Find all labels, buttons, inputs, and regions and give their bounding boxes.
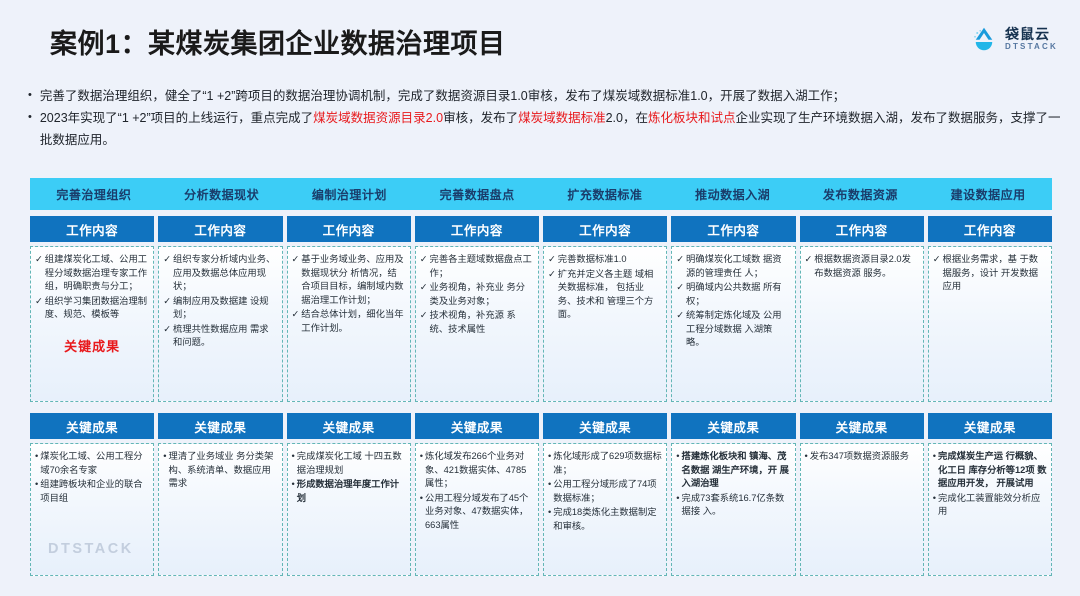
work-item-text: 基于业务域业务、应用及数据现状分 析情况，结合项目目标，编制域内数 据治理工作计… <box>301 253 405 307</box>
key-result-box: •发布347项数据资源服务 <box>800 443 924 576</box>
work-item: ✓编制应用及数据建 设规划； <box>163 295 277 322</box>
work-item-text: 统筹制定炼化域及 公用工程分域数据 入湖策略。 <box>686 309 790 349</box>
key-result-header[interactable]: 关键成果 <box>800 413 924 439</box>
banner-cell-7[interactable]: 发布数据资源 <box>797 186 925 203</box>
key-result-header[interactable]: 关键成果 <box>543 413 667 439</box>
work-item-text: 根据业务需求，基 于数据服务，设计 开发数据应用 <box>943 253 1047 293</box>
phase-column-2: 工作内容✓组织专家分析域内业务、应用及数据总体应用现状；✓编制应用及数据建 设规… <box>158 216 282 576</box>
bullet-text: 2023年实现了“1 +2”项目的上线运行，重点完成了煤炭域数据资源目录2.0审… <box>40 108 1062 152</box>
column-spacer <box>928 402 1052 413</box>
key-result-box: •炼化域形成了629项数据标准；•公用工程分域形成了74项数据标准；•完成18类… <box>543 443 667 576</box>
phase-column-6: 工作内容✓明确煤炭化工域数 据资源的管理责任 人；✓明确域内公共数据 所有权；✓… <box>671 216 795 576</box>
bullet-highlight: 煤炭域数据标准 <box>518 111 606 125</box>
bullet-segment: 审核，发布了 <box>443 111 518 125</box>
result-item: •炼化域发布266个业务对象、421数据实体、4785属性； <box>420 450 534 490</box>
result-item-text: 完成18类炼化主数据制定和审核。 <box>553 506 662 533</box>
work-item-text: 明确煤炭化工域数 据资源的管理责任 人； <box>686 253 790 280</box>
bullet-dot-icon: • <box>548 478 551 491</box>
banner-cell-5[interactable]: 扩充数据标准 <box>541 186 669 203</box>
work-content-box: ✓完善数据标准1.0✓扩充并定义各主题 域相关数据标准， 包括业务、技术和 管理… <box>543 246 667 401</box>
check-icon: ✓ <box>163 323 171 336</box>
result-item: •发布347项数据资源服务 <box>805 450 919 463</box>
key-result-header[interactable]: 关键成果 <box>158 413 282 439</box>
bullet-item: •2023年实现了“1 +2”项目的上线运行，重点完成了煤炭域数据资源目录2.0… <box>28 108 1062 152</box>
work-content-box: ✓根据数据资源目录2.0发布数据资源 服务。 <box>800 246 924 401</box>
column-spacer <box>671 402 795 413</box>
phase-column-7: 工作内容✓根据数据资源目录2.0发布数据资源 服务。关键成果•发布347项数据资… <box>800 216 924 576</box>
result-item: •公用工程分域发布了45个业务对象、47数据实体，663属性 <box>420 492 534 532</box>
result-item: •完成煤炭化工域 十四五数据治理规划 <box>292 450 406 477</box>
phase-column-8: 工作内容✓根据业务需求，基 于数据服务，设计 开发数据应用关键成果•完成煤炭生产… <box>928 216 1052 576</box>
brand-name-en: DTSTACK <box>1005 43 1058 51</box>
work-item: ✓基于业务域业务、应用及数据现状分 析情况，结合项目目标，编制域内数 据治理工作… <box>292 253 406 307</box>
check-icon: ✓ <box>933 253 941 266</box>
work-item-text: 技术视角，补充源 系统、技术属性 <box>430 309 534 336</box>
work-item: ✓明确域内公共数据 所有权； <box>676 281 790 308</box>
banner-cell-1[interactable]: 完善治理组织 <box>30 186 158 203</box>
key-result-header[interactable]: 关键成果 <box>415 413 539 439</box>
column-spacer <box>543 402 667 413</box>
result-item: •搭建炼化板块和 镇海、茂名数据 湖生产环境，开 展入湖治理 <box>676 450 790 490</box>
bullet-dot-icon: • <box>420 492 423 505</box>
bullet-segment: 2.0，在 <box>606 111 648 125</box>
work-item-text: 编制应用及数据建 设规划； <box>173 295 277 322</box>
check-icon: ✓ <box>35 295 43 308</box>
result-item-text: 组建跨板块和企业的联合项目组 <box>40 478 149 505</box>
watermark-dtstack: DTSTACK <box>48 541 134 557</box>
bullet-dot-icon: • <box>292 450 295 463</box>
dtstack-logo-icon <box>969 24 999 54</box>
result-item: •完成18类炼化主数据制定和审核。 <box>548 506 662 533</box>
summary-bullets: •完善了数据治理组织，健全了“1 +2”跨项目的数据治理协调机制，完成了数据资源… <box>28 86 1062 152</box>
bullet-dot-icon: • <box>548 506 551 519</box>
result-item: •形成数据治理年度工作计划 <box>292 478 406 505</box>
key-result-box: •炼化域发布266个业务对象、421数据实体、4785属性；•公用工程分域发布了… <box>415 443 539 576</box>
work-item: ✓统筹制定炼化域及 公用工程分域数据 入湖策略。 <box>676 309 790 349</box>
banner-cell-4[interactable]: 完善数据盘点 <box>413 186 541 203</box>
key-result-header[interactable]: 关键成果 <box>287 413 411 439</box>
bullet-highlight: 炼化板块和试点 <box>648 111 736 125</box>
result-item: •完成化工装置能效分析应用 <box>933 492 1047 519</box>
check-icon: ✓ <box>548 253 556 266</box>
column-spacer <box>800 402 924 413</box>
work-item-text: 梳理共性数据应用 需求和问题。 <box>173 323 277 350</box>
work-content-header[interactable]: 工作内容 <box>928 216 1052 242</box>
result-item-text: 形成数据治理年度工作计划 <box>297 478 406 505</box>
check-icon: ✓ <box>548 268 556 281</box>
work-item: ✓完善各主题域数据盘点工作； <box>420 253 534 280</box>
work-content-header[interactable]: 工作内容 <box>158 216 282 242</box>
work-content-box: ✓组建煤炭化工域、公用工程分域数据治理专家工作组，明确职责与分工；✓组织学习集团… <box>30 246 154 401</box>
check-icon: ✓ <box>35 253 43 266</box>
work-item-text: 组建煤炭化工域、公用工程分域数据治理专家工作组，明确职责与分工； <box>45 253 149 293</box>
bullet-segment: 2023年实现了“1 +2”项目的上线运行，重点完成了 <box>40 111 313 125</box>
bullet-dot-icon: • <box>35 450 38 463</box>
work-content-header[interactable]: 工作内容 <box>415 216 539 242</box>
work-item: ✓组建煤炭化工域、公用工程分域数据治理专家工作组，明确职责与分工； <box>35 253 149 293</box>
work-item: ✓根据业务需求，基 于数据服务，设计 开发数据应用 <box>933 253 1047 293</box>
result-item: •完成73套系统16.7亿条数据接 入。 <box>676 492 790 519</box>
result-item: •公用工程分域形成了74项数据标准； <box>548 478 662 505</box>
work-item: ✓根据数据资源目录2.0发布数据资源 服务。 <box>805 253 919 280</box>
work-content-header[interactable]: 工作内容 <box>30 216 154 242</box>
work-item: ✓扩充并定义各主题 域相关数据标准， 包括业务、技术和 管理三个方面。 <box>548 268 662 322</box>
work-item: ✓组织学习集团数据治理制度、规范、模板等 <box>35 295 149 322</box>
result-item: •煤炭化工域、公用工程分域70余名专家 <box>35 450 149 477</box>
check-icon: ✓ <box>163 253 171 266</box>
banner-cell-8[interactable]: 建设数据应用 <box>924 186 1052 203</box>
work-item-text: 完善数据标准1.0 <box>558 253 662 266</box>
work-item-text: 扩充并定义各主题 域相关数据标准， 包括业务、技术和 管理三个方面。 <box>558 268 662 322</box>
work-item: ✓业务视角，补充业 务分类及业务对象； <box>420 281 534 308</box>
work-item: ✓组织专家分析域内业务、应用及数据总体应用现状； <box>163 253 277 293</box>
result-item-text: 煤炭化工域、公用工程分域70余名专家 <box>40 450 149 477</box>
result-item-text: 完成化工装置能效分析应用 <box>938 492 1047 519</box>
work-item-text: 完善各主题域数据盘点工作； <box>430 253 534 280</box>
brand-logo: 袋鼠云 DTSTACK <box>969 24 1058 54</box>
work-item: ✓技术视角，补充源 系统、技术属性 <box>420 309 534 336</box>
check-icon: ✓ <box>292 308 300 321</box>
check-icon: ✓ <box>420 253 428 266</box>
column-spacer <box>30 402 154 413</box>
check-icon: ✓ <box>420 281 428 294</box>
bullet-dot-icon: • <box>676 492 679 505</box>
result-item: •完成煤炭生产运 行概貌、化工日 库存分析等12项 数据应用开发， 开展试用 <box>933 450 1047 490</box>
result-item-text: 完成煤炭生产运 行概貌、化工日 库存分析等12项 数据应用开发， 开展试用 <box>938 450 1047 490</box>
work-item-text: 组织专家分析域内业务、应用及数据总体应用现状； <box>173 253 277 293</box>
check-icon: ✓ <box>292 253 300 266</box>
phase-grid: 工作内容✓组建煤炭化工域、公用工程分域数据治理专家工作组，明确职责与分工；✓组织… <box>30 216 1052 576</box>
phase-column-1: 工作内容✓组建煤炭化工域、公用工程分域数据治理专家工作组，明确职责与分工；✓组织… <box>30 216 154 576</box>
result-item-text: 完成73套系统16.7亿条数据接 入。 <box>682 492 791 519</box>
result-item-text: 理清了业务域业 务分类架构、系统清单、数据应用需求 <box>169 450 278 490</box>
bullet-dot-icon: • <box>933 492 936 505</box>
work-content-header[interactable]: 工作内容 <box>543 216 667 242</box>
result-item-text: 炼化域形成了629项数据标准； <box>553 450 662 477</box>
work-item: ✓结合总体计划，细化当年工作计划。 <box>292 308 406 335</box>
check-icon: ✓ <box>676 253 684 266</box>
bullet-dot-icon: • <box>35 478 38 491</box>
bullet-highlight: 煤炭域数据资源目录2.0 <box>313 111 443 125</box>
bullet-item: •完善了数据治理组织，健全了“1 +2”跨项目的数据治理协调机制，完成了数据资源… <box>28 86 1062 108</box>
bullet-dot-icon: • <box>548 450 551 463</box>
work-content-box: ✓根据业务需求，基 于数据服务，设计 开发数据应用 <box>928 246 1052 401</box>
check-icon: ✓ <box>420 309 428 322</box>
column-spacer <box>415 402 539 413</box>
bullet-marker: • <box>28 108 32 127</box>
key-result-box: •搭建炼化板块和 镇海、茂名数据 湖生产环境，开 展入湖治理•完成73套系统16… <box>671 443 795 576</box>
key-result-header[interactable]: 关键成果 <box>671 413 795 439</box>
work-item-text: 组织学习集团数据治理制度、规范、模板等 <box>45 295 149 322</box>
result-item: •炼化域形成了629项数据标准； <box>548 450 662 477</box>
result-item-text: 完成煤炭化工域 十四五数据治理规划 <box>297 450 406 477</box>
result-item: •组建跨板块和企业的联合项目组 <box>35 478 149 505</box>
banner-cell-3[interactable]: 编制治理计划 <box>286 186 414 203</box>
check-icon: ✓ <box>676 309 684 322</box>
result-item-text: 公用工程分域形成了74项数据标准； <box>553 478 662 505</box>
brand-name-cn: 袋鼠云 <box>1005 27 1058 41</box>
key-result-red-label: 关键成果 <box>35 338 149 357</box>
bullet-dot-icon: • <box>420 450 423 463</box>
result-item-text: 公用工程分域发布了45个业务对象、47数据实体，663属性 <box>425 492 534 532</box>
page-title: 案例1：某煤炭集团企业数据治理项目 <box>50 22 506 61</box>
work-content-header[interactable]: 工作内容 <box>671 216 795 242</box>
work-item-text: 结合总体计划，细化当年工作计划。 <box>301 308 405 335</box>
column-spacer <box>287 402 411 413</box>
work-content-box: ✓组织专家分析域内业务、应用及数据总体应用现状；✓编制应用及数据建 设规划；✓梳… <box>158 246 282 401</box>
result-item-text: 搭建炼化板块和 镇海、茂名数据 湖生产环境，开 展入湖治理 <box>682 450 791 490</box>
work-item: ✓梳理共性数据应用 需求和问题。 <box>163 323 277 350</box>
bullet-dot-icon: • <box>163 450 166 463</box>
bullet-dot-icon: • <box>805 450 808 463</box>
result-item-text: 炼化域发布266个业务对象、421数据实体、4785属性； <box>425 450 534 490</box>
slide-root: 案例1：某煤炭集团企业数据治理项目 袋鼠云 DTSTACK •完善了数据治理组织… <box>0 0 1080 596</box>
phase-banner: 完善治理组织分析数据现状编制治理计划完善数据盘点扩充数据标准推动数据入湖发布数据… <box>30 178 1052 210</box>
bullet-text: 完善了数据治理组织，健全了“1 +2”跨项目的数据治理协调机制，完成了数据资源目… <box>40 86 1062 108</box>
bullet-dot-icon: • <box>933 450 936 463</box>
work-content-box: ✓明确煤炭化工域数 据资源的管理责任 人；✓明确域内公共数据 所有权；✓统筹制定… <box>671 246 795 401</box>
bullet-dot-icon: • <box>292 478 295 491</box>
key-result-box: •理清了业务域业 务分类架构、系统清单、数据应用需求 <box>158 443 282 576</box>
key-result-header[interactable]: 关键成果 <box>928 413 1052 439</box>
check-icon: ✓ <box>676 281 684 294</box>
work-content-box: ✓基于业务域业务、应用及数据现状分 析情况，结合项目目标，编制域内数 据治理工作… <box>287 246 411 401</box>
bullet-segment: 完善了数据治理组织，健全了“1 +2”跨项目的数据治理协调机制，完成了数据资源目… <box>40 89 845 103</box>
phase-column-3: 工作内容✓基于业务域业务、应用及数据现状分 析情况，结合项目目标，编制域内数 据… <box>287 216 411 576</box>
key-result-box: •完成煤炭生产运 行概貌、化工日 库存分析等12项 数据应用开发， 开展试用•完… <box>928 443 1052 576</box>
key-result-box: •完成煤炭化工域 十四五数据治理规划•形成数据治理年度工作计划 <box>287 443 411 576</box>
banner-cell-2[interactable]: 分析数据现状 <box>158 186 286 203</box>
phase-column-5: 工作内容✓完善数据标准1.0✓扩充并定义各主题 域相关数据标准， 包括业务、技术… <box>543 216 667 576</box>
work-content-header[interactable]: 工作内容 <box>800 216 924 242</box>
work-item-text: 业务视角，补充业 务分类及业务对象； <box>430 281 534 308</box>
phase-column-4: 工作内容✓完善各主题域数据盘点工作；✓业务视角，补充业 务分类及业务对象；✓技术… <box>415 216 539 576</box>
check-icon: ✓ <box>805 253 813 266</box>
column-spacer <box>158 402 282 413</box>
work-content-header[interactable]: 工作内容 <box>287 216 411 242</box>
work-content-box: ✓完善各主题域数据盘点工作；✓业务视角，补充业 务分类及业务对象；✓技术视角，补… <box>415 246 539 401</box>
bullet-marker: • <box>28 86 32 105</box>
result-item: •理清了业务域业 务分类架构、系统清单、数据应用需求 <box>163 450 277 490</box>
work-item: ✓明确煤炭化工域数 据资源的管理责任 人； <box>676 253 790 280</box>
key-result-header[interactable]: 关键成果 <box>30 413 154 439</box>
banner-cell-6[interactable]: 推动数据入湖 <box>669 186 797 203</box>
bullet-dot-icon: • <box>676 450 679 463</box>
work-item-text: 明确域内公共数据 所有权； <box>686 281 790 308</box>
work-item: ✓完善数据标准1.0 <box>548 253 662 266</box>
work-item-text: 根据数据资源目录2.0发布数据资源 服务。 <box>814 253 918 280</box>
result-item-text: 发布347项数据资源服务 <box>810 450 919 463</box>
check-icon: ✓ <box>163 295 171 308</box>
